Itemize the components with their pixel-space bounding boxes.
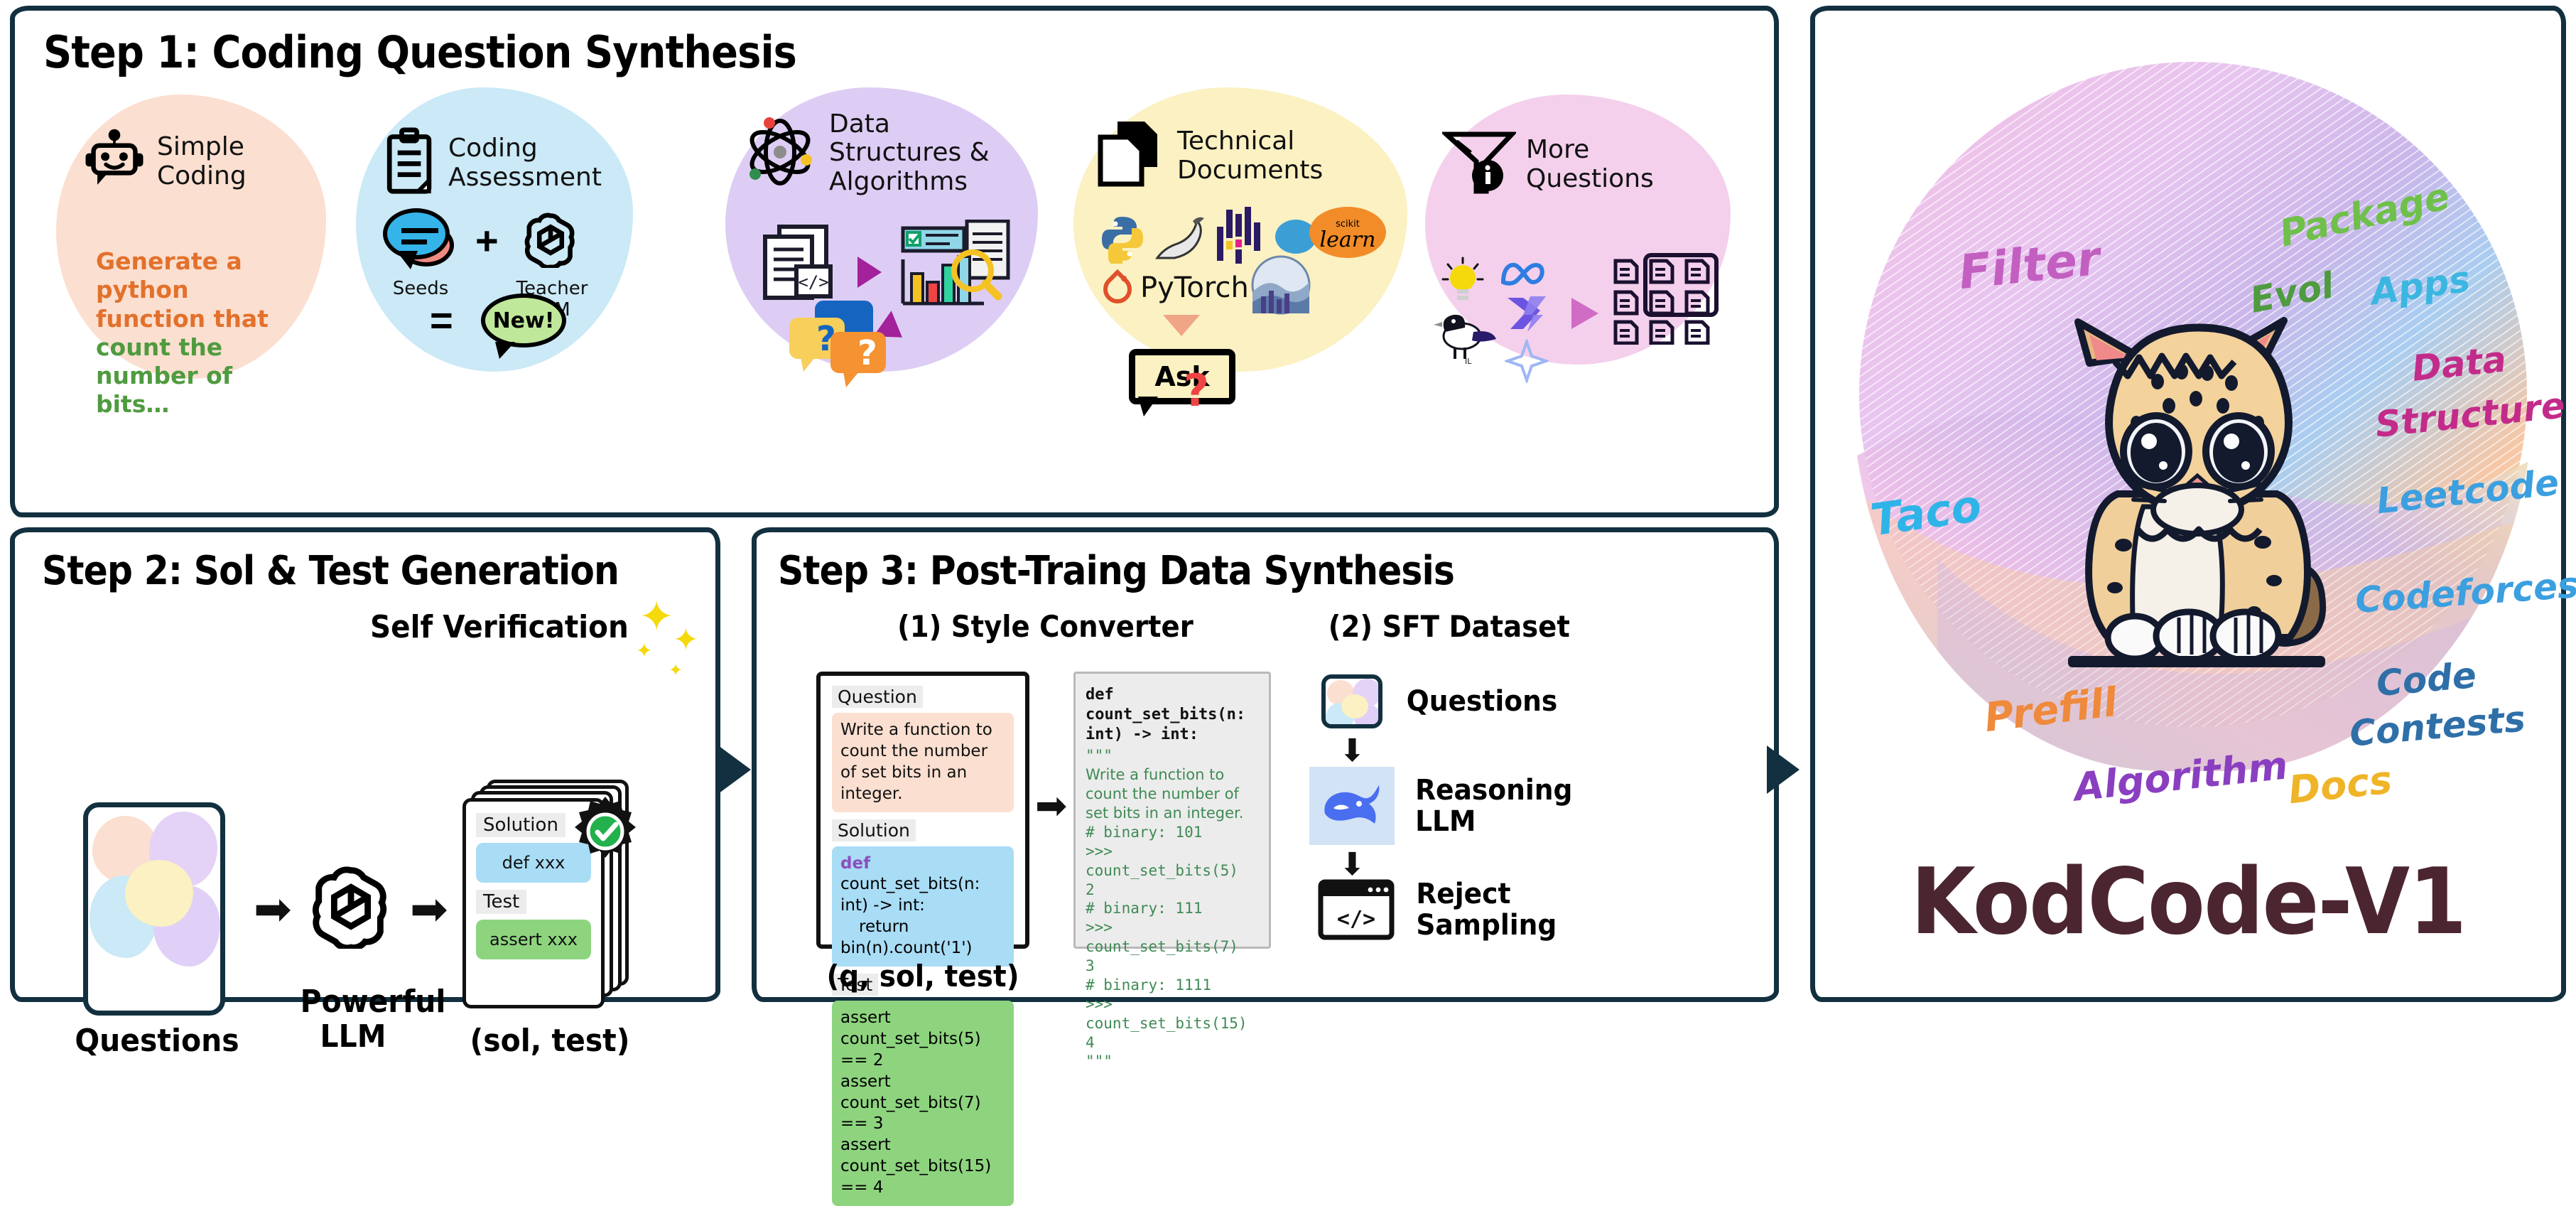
question-bubbles-icon: ? ?: [786, 299, 907, 395]
test-tag: Test: [476, 890, 526, 914]
docstring-text: Write a function to count the number of …: [1086, 765, 1259, 823]
data-analysis-icon: [899, 220, 1012, 313]
step-3-title: Step 3: Post-Traing Data Synthesis: [778, 548, 1454, 594]
brand-title: KodCode-V1: [1845, 849, 2531, 955]
svg-text:learn: learn: [1320, 227, 1376, 252]
blob-label-simple-coding: SimpleCoding: [157, 133, 247, 190]
qst-card: Question Write a function to count the n…: [816, 672, 1029, 949]
panel-step-1: Step 1: Coding Question Synthesis: [10, 6, 1779, 517]
sft-row-reasoning-llm: ReasoningLLM: [1309, 767, 1578, 845]
arrow-right-1: ➡: [254, 886, 292, 932]
sol-test-caption: (sol, test): [454, 1023, 646, 1059]
converted-code-card: def count_set_bits(n: int) -> int: """ W…: [1073, 672, 1271, 949]
gear-check-icon: [566, 792, 644, 874]
q-sol-test-caption: (q, sol, test): [817, 959, 1029, 994]
robot-icon: [82, 127, 147, 196]
question-tag: Question: [832, 686, 923, 708]
arrow-down-2: ⬇: [1339, 849, 1365, 881]
blob-technical-documents: TechnicalDocuments: [1073, 87, 1407, 372]
svg-text:IL: IL: [1465, 357, 1472, 365]
scikit-learn-logo: scikit learn: [1308, 203, 1387, 266]
reasoning-llm-label: ReasoningLLM: [1415, 775, 1572, 837]
sft-row-reject-sampling: </> RejectSampling: [1316, 878, 1562, 942]
python-logo: [1098, 214, 1147, 267]
openai-logo: [306, 859, 396, 952]
arrow-triangle-right: [857, 257, 882, 288]
test-code: assert count_set_bits(5) == 2 assert cou…: [832, 1001, 1014, 1206]
arrow-triangle-down: [1163, 315, 1200, 336]
sparkle-icon-2: ✦: [673, 622, 699, 658]
atom-icon: [741, 113, 819, 195]
keyword-docs: Docs: [2286, 758, 2394, 813]
seeds-label: Seeds: [381, 278, 460, 299]
svg-text:</>: </>: [798, 272, 828, 292]
sparkle-logo: [1505, 339, 1549, 387]
ask-question-mark: ?: [1184, 365, 1209, 416]
pytorch-logo: PyTorch: [1100, 269, 1249, 306]
sparkle-icon-3: ✦: [636, 639, 652, 662]
panel-step-3: Step 3: Post-Traing Data Synthesis (1) S…: [752, 527, 1779, 1002]
openai-logo: [521, 208, 580, 271]
keyword-code: Code: [2375, 655, 2478, 704]
clipboard-icon: [381, 127, 438, 199]
prompt-orange: Generate a python function that: [96, 247, 269, 333]
solution-tag: Solution: [476, 813, 565, 837]
card-stack-icon: Solution def xxx Test assert xxx: [462, 780, 640, 1028]
magpie-icon: IL: [1432, 308, 1498, 368]
blob-label-more-questions: MoreQuestions: [1526, 136, 1654, 193]
questions-box-icon: [83, 802, 225, 1016]
seed-bubble-front: [383, 208, 450, 259]
powerful-llm-caption: PowerfulLLM: [301, 984, 406, 1055]
svg-text:?: ?: [857, 333, 877, 373]
solution-tag: Solution: [832, 819, 916, 841]
plus-sign: +: [475, 221, 499, 261]
step-2-title: Step 2: Sol & Test Generation: [42, 548, 619, 594]
funnel-info-icon: [1442, 129, 1516, 200]
blob-simple-coding: SimpleCoding Generate a python function …: [56, 95, 326, 379]
new-badge: New!: [481, 294, 566, 348]
arrow-down-1: ⬇: [1339, 736, 1365, 767]
cat-icon: [2050, 316, 2348, 686]
lightbulb-icon: [1441, 255, 1485, 311]
style-converter-subtitle: (1) Style Converter: [897, 609, 1194, 644]
blob-label-technical-documents: TechnicalDocuments: [1177, 127, 1323, 185]
converted-signature: def count_set_bits(n: int) -> int:: [1086, 685, 1259, 745]
prompt-green: count the number of bits…: [96, 333, 232, 419]
questions-label: Questions: [1407, 686, 1557, 717]
step-1-title: Step 1: Coding Question Synthesis: [43, 26, 796, 78]
blob-data-structures: Data Structures & Algorithms </>: [725, 87, 1038, 372]
documents-icon: [1093, 117, 1167, 195]
blob-label-data-structures: Data Structures & Algorithms: [829, 110, 990, 196]
xai-logo: [1502, 291, 1550, 341]
equals-sign: =: [430, 301, 453, 340]
deepseek-whale-logo: [1309, 767, 1395, 845]
panel-step-2: Step 2: Sol & Test Generation Self Verif…: [10, 527, 720, 1002]
reject-sampling-label: RejectSampling: [1416, 878, 1557, 941]
connector-step3-to-brand: [1767, 745, 1800, 794]
blob-label-coding-assessment: CodingAssessment: [448, 134, 602, 192]
questions-caption: Questions: [65, 1023, 249, 1059]
sft-row-questions: Questions: [1318, 667, 1562, 736]
docstring-close: """: [1086, 1052, 1259, 1071]
docstring-open: """: [1086, 746, 1259, 765]
code-window-icon: </>: [1316, 878, 1396, 942]
code-documents-icon: </>: [759, 222, 836, 311]
arrow-right-convert: ➡: [1035, 787, 1067, 825]
questions-box-icon: [1318, 667, 1386, 736]
scipy-logo: [1153, 212, 1211, 267]
prompt-text: Generate a python function that count th…: [96, 247, 281, 419]
doctest-lines: # binary: 101 >>> count_set_bits(5) 2 # …: [1086, 823, 1259, 1052]
document-grid-icon: [1613, 252, 1721, 348]
connector-step2-to-step3: [718, 745, 751, 794]
matplotlib-logo: [1251, 255, 1311, 318]
arrow-triangle-right-pink: [1571, 298, 1598, 329]
sparkle-icon-1: ✦: [639, 592, 674, 642]
figure-root: Step 1: Coding Question Synthesis: [0, 0, 2576, 1009]
sft-dataset-subtitle: (2) SFT Dataset: [1328, 609, 1570, 644]
sparkle-icon-4: ✦: [669, 660, 683, 681]
question-text: Write a function to count the number of …: [832, 713, 1014, 812]
blob-coding-assessment: CodingAssessment Seeds +: [356, 87, 633, 372]
self-verification-label: Self Verification: [370, 609, 629, 645]
test-code: assert xxx: [476, 920, 591, 959]
solution-code: def count_set_bits(n: int) -> int: retur…: [832, 846, 1014, 967]
arrow-right-2: ➡: [410, 886, 448, 932]
svg-text:</>: </>: [1337, 907, 1375, 932]
ask-box: Ask ?: [1129, 349, 1235, 404]
meta-logo: [1499, 258, 1553, 293]
blob-more-questions: MoreQuestions: [1425, 95, 1731, 365]
panel-brand: Filter Package Evol Apps Data Structure …: [1810, 6, 2566, 1002]
